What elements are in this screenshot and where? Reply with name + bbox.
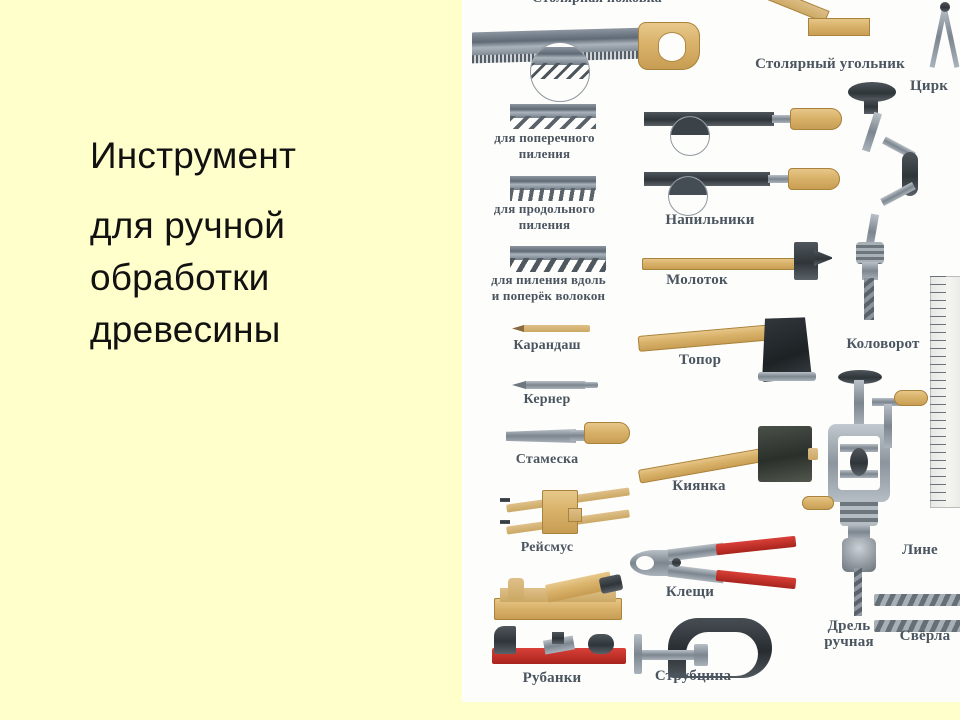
tool-poster-image: Столярная ножовка для поперечного пилени… bbox=[462, 0, 960, 702]
label-pincers: Клещи bbox=[630, 584, 750, 600]
title-line-2: для ручной bbox=[90, 200, 420, 252]
center-punch-illustration bbox=[512, 378, 598, 390]
hand-drill-illustration bbox=[810, 370, 930, 630]
marking-gauge-illustration bbox=[500, 484, 636, 544]
ruler-illustration bbox=[930, 276, 960, 506]
file-illustration-1 bbox=[644, 104, 824, 144]
title-line-3: обработки bbox=[90, 252, 420, 304]
label-axe: Топор bbox=[640, 352, 760, 368]
try-square-illustration bbox=[752, 0, 872, 44]
title-line-4: древесины bbox=[90, 304, 420, 356]
handsaw-illustration bbox=[472, 20, 702, 80]
pincers-illustration bbox=[630, 538, 800, 584]
slide-root: Инструмент для ручной обработки древесин… bbox=[0, 0, 960, 720]
label-saw-rip: для продольного пиления bbox=[462, 201, 627, 233]
brace-illustration bbox=[828, 82, 938, 322]
label-files: Напильники bbox=[640, 212, 780, 228]
label-clamp: Струбцина bbox=[618, 668, 768, 684]
page-title: Инструмент для ручной обработки древесин… bbox=[90, 130, 420, 356]
label-hammer: Молоток bbox=[632, 272, 762, 288]
chisel-illustration bbox=[506, 420, 628, 450]
wooden-plane-illustration bbox=[494, 576, 626, 622]
label-saw-combined: для пиления вдоль и поперёк волокон bbox=[462, 272, 641, 304]
title-line-1: Инструмент bbox=[90, 130, 420, 182]
compass-illustration bbox=[914, 2, 960, 72]
label-pencil: Карандаш bbox=[482, 338, 612, 354]
saw-teeth-combined bbox=[510, 246, 606, 272]
axe-illustration bbox=[638, 310, 824, 384]
label-saw-crosscut: для поперечного пиления bbox=[462, 130, 627, 162]
label-chisel: Стамеска bbox=[477, 452, 617, 468]
label-drill-bits: Свёрла bbox=[870, 628, 960, 644]
poster-heading-clipped: Столярная ножовка bbox=[482, 0, 712, 7]
label-try-square: Столярный угольник bbox=[740, 56, 920, 72]
label-planes: Рубанки bbox=[472, 670, 632, 686]
label-center-punch: Кернер bbox=[482, 392, 612, 408]
saw-teeth-crosscut bbox=[510, 104, 596, 130]
saw-teeth-rip bbox=[510, 176, 596, 202]
label-ruler: Лине bbox=[902, 542, 960, 558]
file-illustration-2 bbox=[644, 164, 824, 204]
pencil-illustration bbox=[512, 322, 590, 334]
label-mallet: Киянка bbox=[634, 478, 764, 494]
metal-plane-illustration bbox=[492, 624, 628, 668]
label-marking-gauge: Рейсмус bbox=[472, 540, 622, 556]
